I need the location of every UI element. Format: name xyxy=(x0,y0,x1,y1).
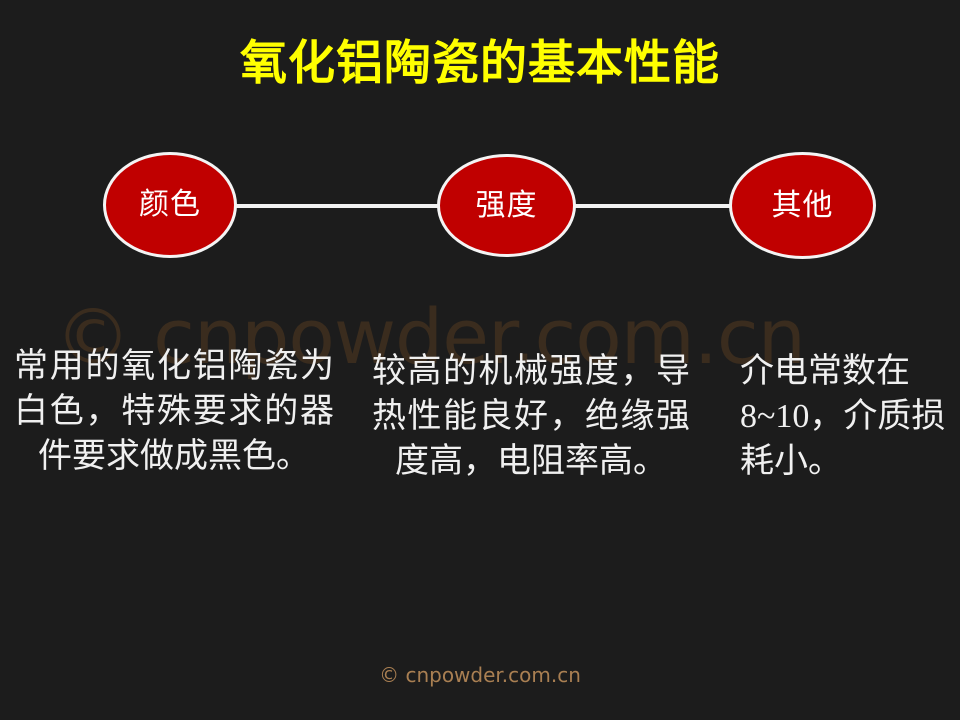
description-column-strength: 较高的机械强度，导热性能良好，绝缘强度高，电阻率高。 xyxy=(372,349,690,484)
diagram-node-color[interactable]: 颜色 xyxy=(103,152,237,258)
description-column-other: 介电常数在8~10，介质损耗小。 xyxy=(740,349,955,484)
connector-line-strength-to-other xyxy=(563,204,743,208)
description-column-color: 常用的氧化铝陶瓷为白色，特殊要求的器件要求做成黑色。 xyxy=(14,344,334,479)
diagram-node-other[interactable]: 其他 xyxy=(729,152,876,259)
diagram-node-strength[interactable]: 强度 xyxy=(437,154,576,257)
diagram-node-label: 其他 xyxy=(772,191,834,221)
diagram-node-label: 颜色 xyxy=(139,190,201,220)
footer-watermark: © cnpowder.com.cn xyxy=(0,662,960,688)
description-columns: 常用的氧化铝陶瓷为白色，特殊要求的器件要求做成黑色。 较高的机械强度，导热性能良… xyxy=(0,344,960,574)
concept-diagram: 颜色 强度 其他 xyxy=(0,130,960,280)
slide-title: 氧化铝陶瓷的基本性能 xyxy=(0,36,960,92)
presentation-slide: © cnpowder.com.cn 氧化铝陶瓷的基本性能 颜色 强度 其他 常用… xyxy=(0,0,960,720)
connector-line-color-to-strength xyxy=(225,204,450,208)
diagram-node-label: 强度 xyxy=(476,191,538,221)
